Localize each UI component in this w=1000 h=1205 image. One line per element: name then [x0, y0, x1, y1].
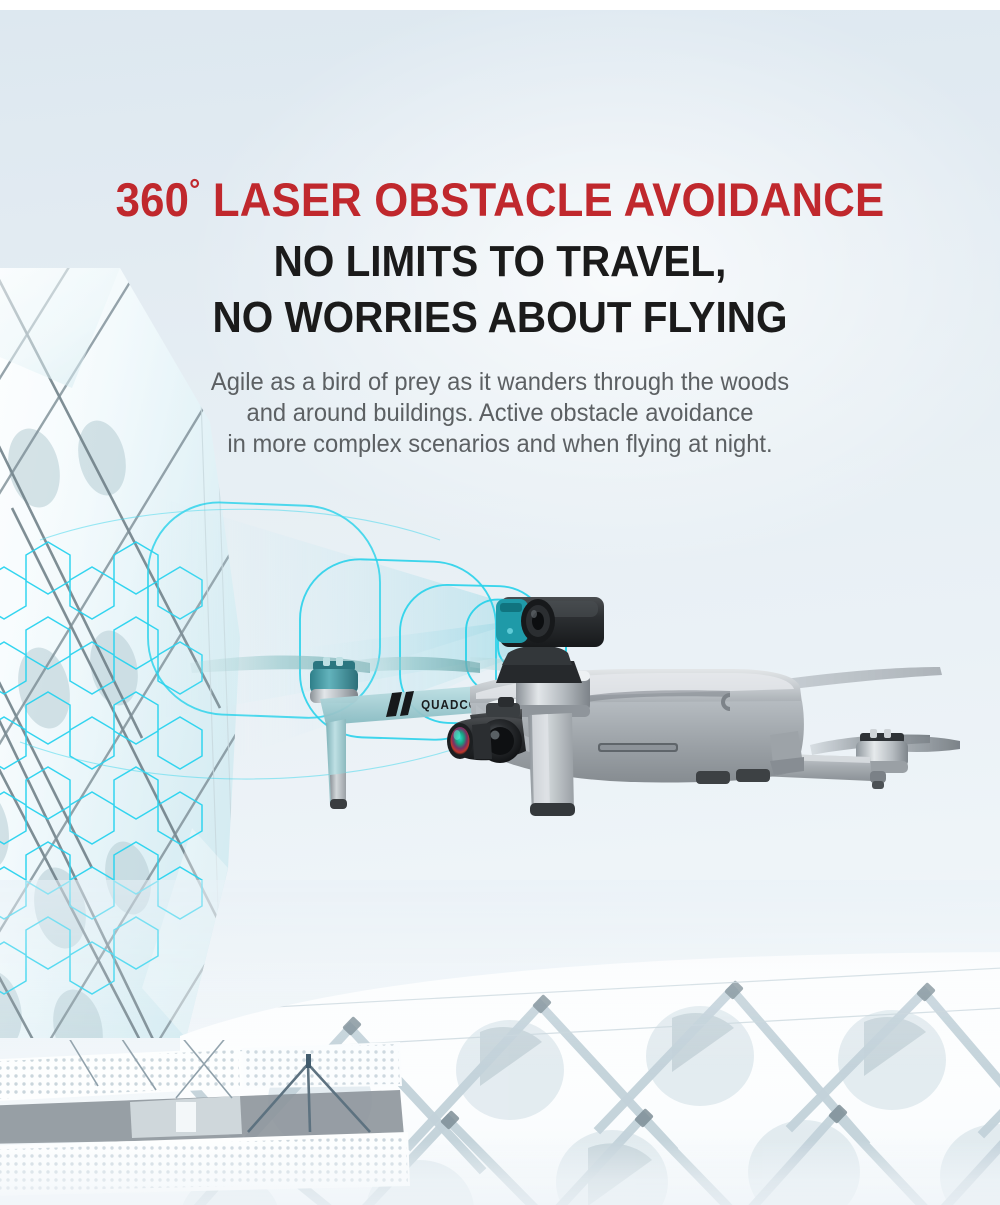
drone-quadcopter: QUADCOPTER — [170, 575, 960, 835]
headline-line-3: NO WORRIES ABOUT FLYING — [40, 296, 960, 340]
deck-railing — [0, 1040, 640, 1205]
laser-sensor-module — [496, 597, 604, 683]
headline-line-2: NO LIMITS TO TRAVEL, — [40, 240, 960, 284]
product-poster: QUADCOPTER — [0, 0, 1000, 1205]
headline-primary-rest: LASER OBSTACLE AVOIDANCE — [201, 173, 885, 226]
subtitle-line-3: in more complex scenarios and when flyin… — [25, 429, 975, 460]
degree-symbol: ° — [189, 173, 200, 206]
drone-illustration: QUADCOPTER — [170, 575, 960, 835]
headline-number: 360 — [116, 173, 189, 226]
deck-structure — [0, 1040, 640, 1205]
headline-primary: 360° LASER OBSTACLE AVOIDANCE — [35, 176, 965, 223]
subtitle-line-1: Agile as a bird of prey as it wanders th… — [25, 367, 975, 398]
top-white-strip — [0, 0, 1000, 10]
subtitle-line-2: and around buildings. Active obstacle av… — [25, 398, 975, 429]
